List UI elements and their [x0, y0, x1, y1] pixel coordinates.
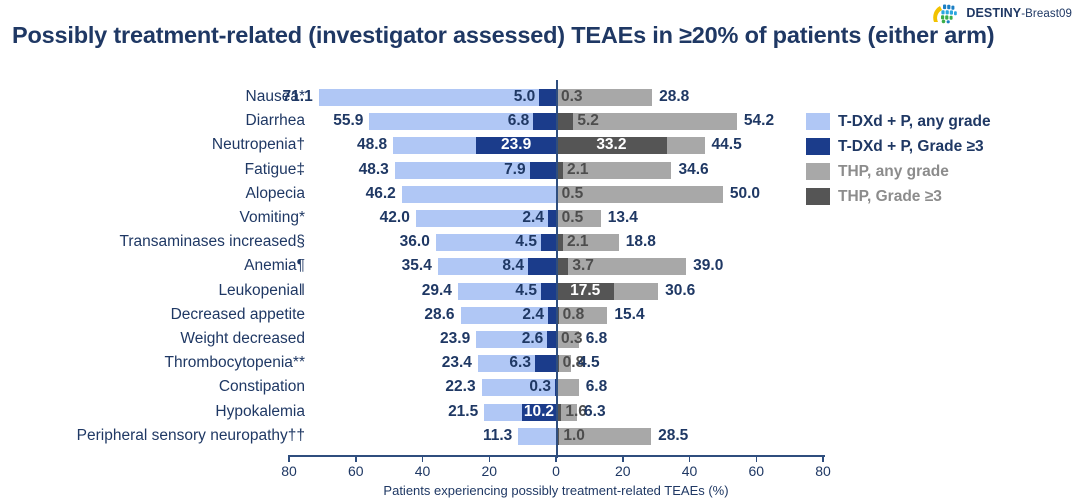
- value-label-thp-grade3: 3.7: [572, 255, 614, 279]
- value-label-tdxd-grade3: 5.0: [493, 86, 535, 110]
- legend-swatch: [806, 113, 830, 130]
- value-label-tdxd-any: 71.1: [271, 86, 313, 110]
- bar-tdxd-grade3: [548, 307, 556, 324]
- value-label-thp-any: 50.0: [730, 183, 782, 207]
- value-label-tdxd-grade3: 0.3: [509, 376, 551, 400]
- legend-swatch: [806, 163, 830, 180]
- axis-tick-label: 20: [481, 463, 497, 479]
- value-label-thp-grade3: 0.5: [562, 183, 604, 207]
- value-label-tdxd-grade3: 2.6: [501, 328, 543, 352]
- value-label-tdxd-grade3: 7.9: [484, 159, 526, 183]
- bar-tdxd-any-grade: [484, 404, 522, 421]
- zero-axis-line: [556, 80, 558, 458]
- category-label: Diarrhea: [246, 110, 305, 134]
- legend-item: THP, Grade ≥3: [806, 184, 991, 209]
- value-label-tdxd-any: 22.3: [434, 376, 476, 400]
- value-label-tdxd-grade3: 4.5: [495, 231, 537, 255]
- category-label: Vomiting*: [240, 207, 305, 231]
- axis-tick: [822, 455, 824, 462]
- bar-tdxd-any-grade: [393, 137, 476, 154]
- value-label-tdxd-any: 55.9: [321, 110, 363, 134]
- value-label-tdxd-grade3: 23.9: [476, 134, 556, 158]
- value-label-thp-grade3: 2.1: [567, 231, 609, 255]
- axis-tick-label: 20: [615, 463, 631, 479]
- chart-row: Leukopenia‖29.44.517.530.6: [0, 280, 1080, 304]
- legend-swatch: [806, 188, 830, 205]
- x-axis: Patients experiencing possibly treatment…: [0, 455, 1080, 499]
- category-label: Decreased appetite: [171, 304, 305, 328]
- x-axis-title: Patients experiencing possibly treatment…: [383, 483, 728, 498]
- value-label-tdxd-any: 35.4: [390, 255, 432, 279]
- bar-tdxd-any-grade: [518, 428, 556, 445]
- value-label-thp-grade3: 17.5: [556, 280, 614, 304]
- axis-tick: [689, 455, 691, 462]
- legend-label: THP, any grade: [838, 163, 949, 181]
- category-label: Hypokalemia: [215, 401, 305, 425]
- value-label-thp-grade3: 2.1: [567, 159, 609, 183]
- value-label-thp-any: 6.8: [586, 328, 638, 352]
- value-label-thp-any: 28.5: [658, 425, 710, 449]
- bar-tdxd-grade3: [528, 258, 556, 275]
- axis-tick-label: 60: [348, 463, 364, 479]
- chart-row: Hypokalemia21.510.21.66.3: [0, 401, 1080, 425]
- value-label-tdxd-any: 28.6: [413, 304, 455, 328]
- bar-tdxd-grade3: [541, 283, 556, 300]
- axis-title-wrap: Patients experiencing possibly treatment…: [0, 483, 1080, 498]
- value-label-thp-grade3: 0.8: [563, 304, 605, 328]
- axis-tick: [288, 455, 290, 462]
- value-label-tdxd-grade3: 2.4: [502, 304, 544, 328]
- logo-brand-suffix: -Breast09: [1021, 8, 1072, 20]
- chart-row: Constipation22.30.36.8: [0, 376, 1080, 400]
- category-label: Constipation: [219, 376, 305, 400]
- value-label-thp-any: 39.0: [693, 255, 745, 279]
- axis-tick: [555, 455, 557, 462]
- legend-swatch: [806, 138, 830, 155]
- value-label-tdxd-any: 48.8: [345, 134, 387, 158]
- value-label-thp-any: 54.2: [744, 110, 796, 134]
- bar-tdxd-grade3: [541, 234, 556, 251]
- category-label: Transaminases increased§: [119, 231, 305, 255]
- category-label: Weight decreased: [180, 328, 305, 352]
- destiny-breast09-logo-icon: [932, 2, 962, 24]
- value-label-tdxd-grade3: 10.2: [522, 401, 556, 425]
- axis-tick-label: 80: [815, 463, 831, 479]
- value-label-thp-grade3: 1.0: [563, 425, 605, 449]
- value-label-tdxd-any: 23.4: [430, 352, 472, 376]
- axis-tick-label: 0: [552, 463, 560, 479]
- value-label-thp-any: 4.5: [578, 352, 630, 376]
- legend-item: THP, any grade: [806, 159, 991, 184]
- bar-tdxd-grade3: [535, 355, 556, 372]
- category-label: Peripheral sensory neuropathy††: [77, 425, 305, 449]
- bar-thp-grade3: [556, 113, 573, 130]
- chart-row: Weight decreased23.92.60.36.8: [0, 328, 1080, 352]
- axis-tick-label: 40: [415, 463, 431, 479]
- value-label-tdxd-any: 11.3: [470, 425, 512, 449]
- value-label-tdxd-grade3: 8.4: [482, 255, 524, 279]
- value-label-tdxd-any: 36.0: [388, 231, 430, 255]
- chart-row: Decreased appetite28.62.40.815.4: [0, 304, 1080, 328]
- axis-tick: [422, 455, 424, 462]
- value-label-thp-any: 6.8: [586, 376, 638, 400]
- category-label: Leukopenia‖: [218, 280, 305, 304]
- chart-row: Nausea*71.15.00.328.8: [0, 86, 1080, 110]
- value-label-thp-grade3: 33.2: [556, 134, 667, 158]
- value-label-thp-grade3: 5.2: [577, 110, 619, 134]
- value-label-tdxd-any: 21.5: [436, 401, 478, 425]
- value-label-thp-any: 13.4: [608, 207, 660, 231]
- value-label-thp-any: 34.6: [678, 159, 730, 183]
- category-label: Fatigue‡: [245, 159, 305, 183]
- value-label-tdxd-grade3: 6.8: [487, 110, 529, 134]
- bar-thp-grade3: [556, 258, 568, 275]
- chart-legend: T-DXd + P, any gradeT-DXd + P, Grade ≥3T…: [806, 109, 991, 209]
- logo-brand-main: DESTINY: [966, 6, 1021, 20]
- value-label-thp-any: 15.4: [614, 304, 666, 328]
- chart-row: Peripheral sensory neuropathy††11.31.028…: [0, 425, 1080, 449]
- category-label: Alopecia: [246, 183, 305, 207]
- bar-tdxd-grade3: [539, 89, 556, 106]
- value-label-thp-any: 28.8: [659, 86, 711, 110]
- bar-tdxd-grade3: [530, 162, 556, 179]
- axis-tick-label: 40: [682, 463, 698, 479]
- chart-row: Anemia¶35.48.43.739.0: [0, 255, 1080, 279]
- legend-label: T-DXd + P, Grade ≥3: [838, 138, 984, 156]
- value-label-thp-grade3: 0.5: [562, 207, 604, 231]
- bar-tdxd-grade3: [547, 331, 556, 348]
- legend-label: THP, Grade ≥3: [838, 188, 942, 206]
- category-label: Neutropenia†: [212, 134, 305, 158]
- value-label-tdxd-any: 42.0: [368, 207, 410, 231]
- value-label-tdxd-grade3: 4.5: [495, 280, 537, 304]
- chart-row: Transaminases increased§36.04.52.118.8: [0, 231, 1080, 255]
- category-label: Anemia¶: [244, 255, 305, 279]
- chart-row: Vomiting*42.02.40.513.4: [0, 207, 1080, 231]
- value-label-thp-any: 18.8: [626, 231, 678, 255]
- value-label-tdxd-any: 29.4: [410, 280, 452, 304]
- bar-thp-any-grade: [556, 379, 579, 396]
- value-label-thp-any: 30.6: [665, 280, 717, 304]
- axis-tick: [756, 455, 758, 462]
- axis-tick: [489, 455, 491, 462]
- value-label-tdxd-any: 48.3: [347, 159, 389, 183]
- bar-tdxd-any-grade: [402, 186, 556, 203]
- axis-tick-label: 80: [281, 463, 297, 479]
- axis-tick-label: 60: [748, 463, 764, 479]
- legend-label: T-DXd + P, any grade: [838, 113, 991, 131]
- legend-item: T-DXd + P, any grade: [806, 109, 991, 134]
- axis-tick: [622, 455, 624, 462]
- value-label-thp-any: 44.5: [712, 134, 764, 158]
- axis-tick: [355, 455, 357, 462]
- chart-row: Thrombocytopenia**23.46.30.84.5: [0, 352, 1080, 376]
- value-label-tdxd-grade3: 6.3: [489, 352, 531, 376]
- bar-tdxd-grade3: [533, 113, 556, 130]
- value-label-tdxd-grade3: 2.4: [502, 207, 544, 231]
- legend-item: T-DXd + P, Grade ≥3: [806, 134, 991, 159]
- page-title: Possibly treatment-related (investigator…: [12, 22, 1052, 49]
- value-label-tdxd-any: 23.9: [428, 328, 470, 352]
- study-logo: DESTINY-Breast09: [932, 2, 1072, 24]
- value-label-thp-grade3: 0.3: [561, 86, 603, 110]
- value-label-tdxd-any: 46.2: [354, 183, 396, 207]
- logo-wordmark: DESTINY-Breast09: [966, 6, 1072, 20]
- value-label-thp-any: 6.3: [584, 401, 636, 425]
- bar-tdxd-grade3: [548, 210, 556, 227]
- category-label: Thrombocytopenia**: [165, 352, 305, 376]
